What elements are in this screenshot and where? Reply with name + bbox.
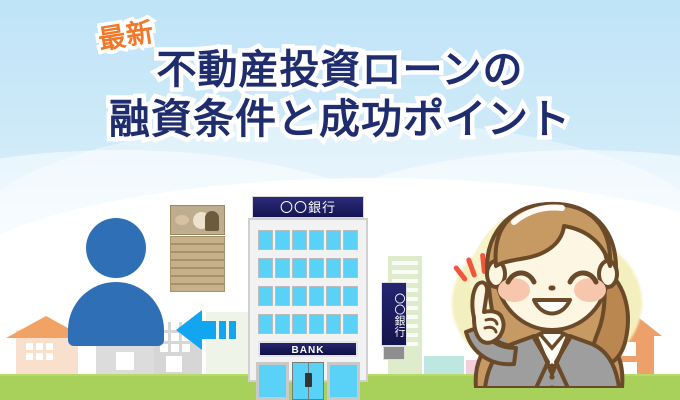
bank-name-sign: 〇〇銀行 [252,196,364,218]
person-silhouette-icon [68,218,164,343]
headline-block: 不動産投資ローンの 融資条件と成功ポイント [0,46,680,144]
person-body [68,282,164,346]
pole-sign-label: 〇〇銀行 [381,282,407,346]
bank-pole-sign: 〇〇銀行 [381,282,407,364]
bank-ground-floor [256,362,360,400]
pointing-woman-illustration [452,196,652,388]
banknote-stack-icon [170,205,225,293]
bg-building-2-door [166,356,182,372]
bank-entrance-door[interactable] [292,362,324,400]
headline-line-2: 融資条件と成功ポイント [0,95,680,144]
arrow-tail-3 [229,321,236,339]
bg-house-left-windows [26,343,53,360]
bank-gf-window-right [327,362,360,400]
bank-gf-window-left [256,362,289,400]
left-arrow-icon [176,310,236,350]
banknote-top [170,205,225,235]
loan-banner: 〇〇銀行 〇〇銀行 BANK [0,0,680,400]
bg-building-1-window [116,352,134,370]
door-handle [305,373,312,387]
arrow-tail-1 [202,321,216,339]
bank-window-row-4 [258,314,358,334]
bank-window-row-1 [258,230,358,250]
bank-building: 〇〇銀行 BANK [248,196,368,382]
pole-sign-base [383,346,405,360]
bank-entrance-sign: BANK [258,341,358,357]
banknote-stamp [175,215,189,225]
bank-window-row-2 [258,258,358,278]
woman-svg [452,196,652,388]
arrow-head [176,310,202,350]
headline-line-1: 不動産投資ローンの [0,46,680,95]
arrow-tail-2 [219,321,226,339]
banknote-portrait [205,211,219,231]
bank-window-row-3 [258,286,358,306]
person-head [86,218,146,278]
